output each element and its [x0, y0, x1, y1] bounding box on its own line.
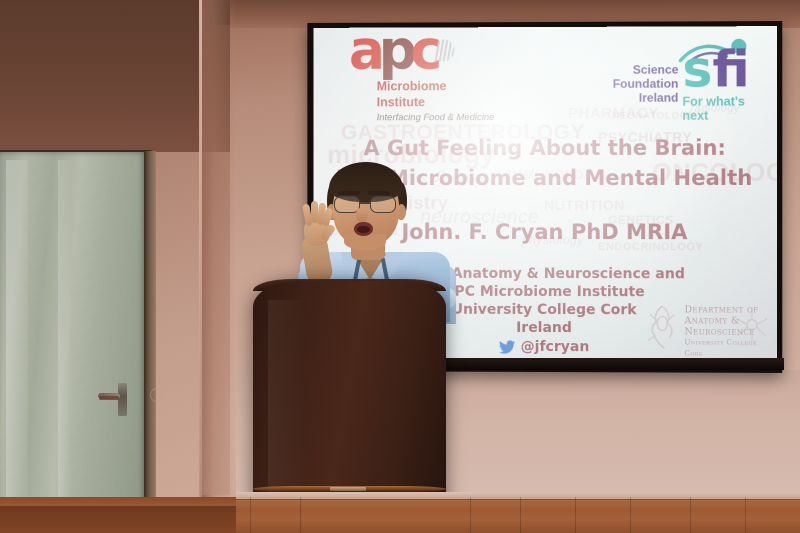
neuron-icon-left [642, 302, 684, 350]
department-line4: University College Cork [684, 337, 767, 359]
department-line1: Department of [684, 304, 767, 315]
floor-sheen [236, 500, 800, 510]
floor-plank-seam [470, 497, 471, 533]
sfi-tagline: For what's next [682, 94, 763, 122]
presenter-gesturing-hand [300, 204, 334, 246]
slide-title-line1: A Gut Feeling About the Brain: [313, 133, 777, 163]
floor-skirting [236, 492, 800, 499]
floor-plank-seam [630, 497, 631, 533]
sfi-name-block: Science Foundation Ireland [582, 63, 678, 105]
twitter-handle: @jfcryan [521, 338, 590, 356]
door-latch-icon [150, 388, 164, 402]
floor-plank-seam [575, 497, 576, 533]
eyebrow-right [368, 191, 390, 195]
door-reflection-2 [58, 160, 72, 526]
floor-plank-seam [300, 497, 301, 533]
glasses-lens-right [370, 196, 396, 213]
floor-plank-seam [745, 497, 746, 533]
apc-stripes-icon [434, 39, 454, 61]
department-line3: Neuroscience [684, 326, 767, 337]
floor-plank-seam [250, 497, 251, 533]
floor-plank-seam [520, 497, 521, 533]
podium-plate [330, 487, 366, 491]
sfi-wordmark-f: f [712, 40, 749, 98]
presenter-mouth-inner [357, 226, 370, 233]
apc-logo: a p c Microbiome Institute Interfacing F… [349, 35, 498, 123]
department-logo: Department of Anatomy & Neuroscience Uni… [640, 298, 767, 355]
twitter-bird-icon [499, 340, 516, 354]
department-line2: Anatomy & [684, 315, 767, 326]
wall-alcove-edge [199, 0, 202, 497]
wall-alcove-inner [202, 25, 230, 495]
wooden-floor-left [0, 506, 236, 533]
apc-logo-mark: a p c [349, 35, 498, 77]
sfi-wordmark: sfi [682, 44, 749, 94]
sfi-line2: Foundation [582, 77, 678, 91]
glasses-bridge [360, 202, 370, 204]
door-handle[interactable] [118, 383, 127, 416]
department-name-block: Department of Anatomy & Neuroscience Uni… [684, 304, 767, 359]
floor-plank-seam [690, 497, 691, 533]
apc-logo-line2: Institute [377, 95, 498, 109]
door-gap [149, 151, 156, 533]
presenter-chin [344, 234, 386, 250]
sfi-logo: Science Foundation Ireland sfi For what'… [582, 38, 763, 113]
door-lever-accent [99, 396, 119, 400]
podium-sheen [268, 300, 306, 500]
sfi-line1: Science [582, 63, 678, 77]
lecture-hall-scene: GASTROENTEROLOGYPHARMACYPSYCHIATRYNEONAT… [0, 0, 800, 533]
presenter-mouth [354, 222, 373, 236]
door-reflection [6, 160, 28, 526]
watermark-word: NUTRITION [544, 197, 625, 213]
eyebrow-left [338, 191, 360, 195]
upper-left-wall [0, 0, 230, 152]
presenter-nose [356, 208, 368, 222]
apc-logo-tagline: Interfacing Food & Medicine [377, 112, 498, 123]
sfi-line3: Ireland [582, 91, 678, 105]
